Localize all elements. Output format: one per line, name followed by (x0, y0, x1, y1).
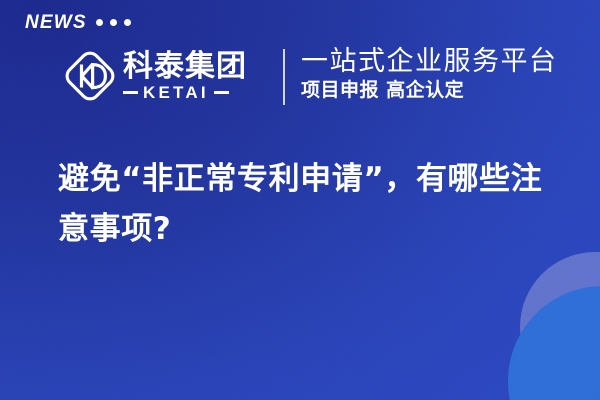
rule-right-decoration (214, 91, 229, 94)
tagline-main: 一站式企业服务平台 (301, 47, 558, 77)
vertical-divider (283, 49, 285, 105)
brand-logo-wordmark: 科泰集团 KETAI (123, 51, 247, 102)
dot-icon (110, 19, 117, 26)
tagline-sub: 项目申报 高企认定 (301, 80, 558, 102)
rule-left-decoration (123, 91, 138, 94)
brand-name-latin: KETAI (143, 84, 209, 101)
news-eyebrow-dots (96, 19, 131, 26)
news-eyebrow: NEWS (25, 13, 131, 32)
brand-name-latin-row: KETAI (123, 84, 247, 101)
dot-icon (124, 19, 131, 26)
dot-icon (96, 19, 103, 26)
brand-logo: 科泰集团 KETAI (60, 46, 247, 106)
decorative-circle-bright (508, 286, 600, 400)
brand-name-cn: 科泰集团 (123, 51, 247, 83)
tagline-block: 一站式企业服务平台 项目申报 高企认定 (301, 47, 558, 102)
news-banner: NEWS 科泰集团 K (0, 0, 600, 400)
ketai-diamond-k-logo-icon (60, 46, 120, 106)
news-eyebrow-label: NEWS (25, 13, 87, 32)
page-title: 避免“非正常专利申请”，有哪些注意事项? (58, 155, 558, 254)
